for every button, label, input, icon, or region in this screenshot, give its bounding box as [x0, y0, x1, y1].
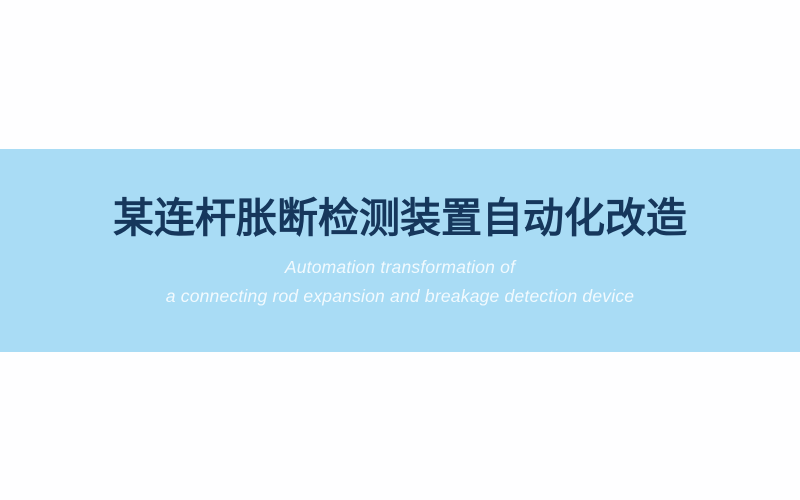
subtitle-line-1: Automation transformation of: [0, 253, 800, 282]
title-banner: 某连杆胀断检测装置自动化改造 Automation transformation…: [0, 149, 800, 352]
page-title: 某连杆胀断检测装置自动化改造: [0, 193, 800, 243]
subtitle-block: Automation transformation of a connectin…: [0, 253, 800, 311]
subtitle-line-2: a connecting rod expansion and breakage …: [0, 282, 800, 311]
blank-area-bottom: [0, 352, 800, 500]
blank-area-top: [0, 0, 800, 149]
slide-canvas: 某连杆胀断检测装置自动化改造 Automation transformation…: [0, 0, 800, 500]
